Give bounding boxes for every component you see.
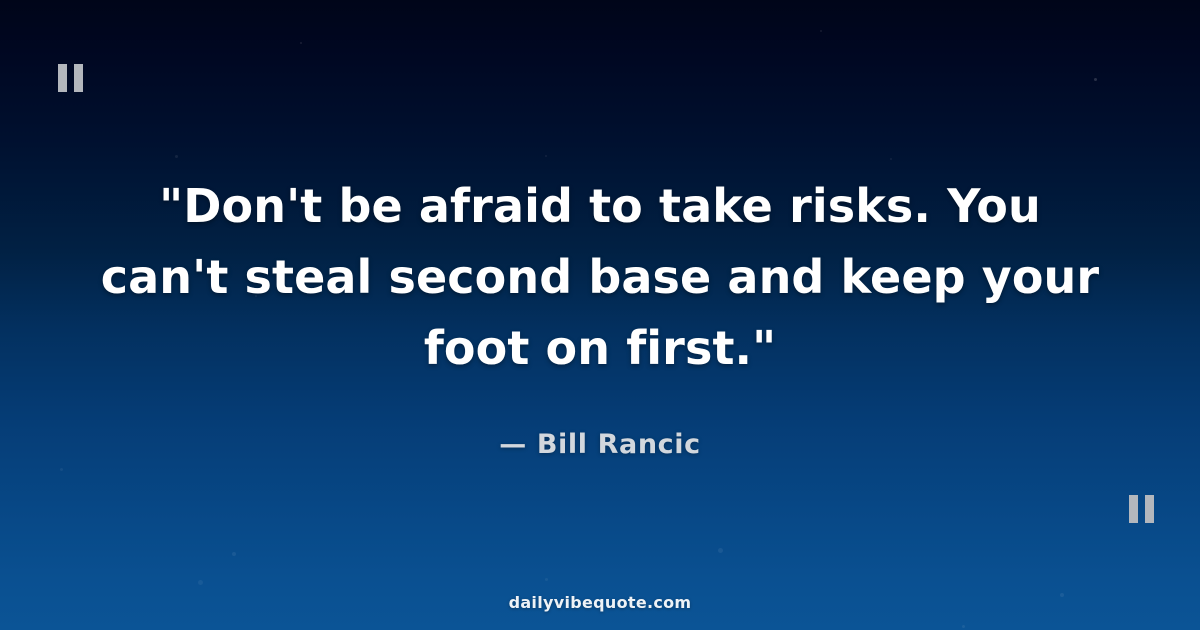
quote-author: — Bill Rancic (499, 429, 700, 460)
quote-text: "Don't be afraid to take risks. You can'… (60, 171, 1140, 384)
quote-content: "Don't be afraid to take risks. You can'… (0, 0, 1200, 630)
footer-brand: dailyvibequote.com (0, 593, 1200, 612)
quote-card: "Don't be afraid to take risks. You can'… (0, 0, 1200, 630)
